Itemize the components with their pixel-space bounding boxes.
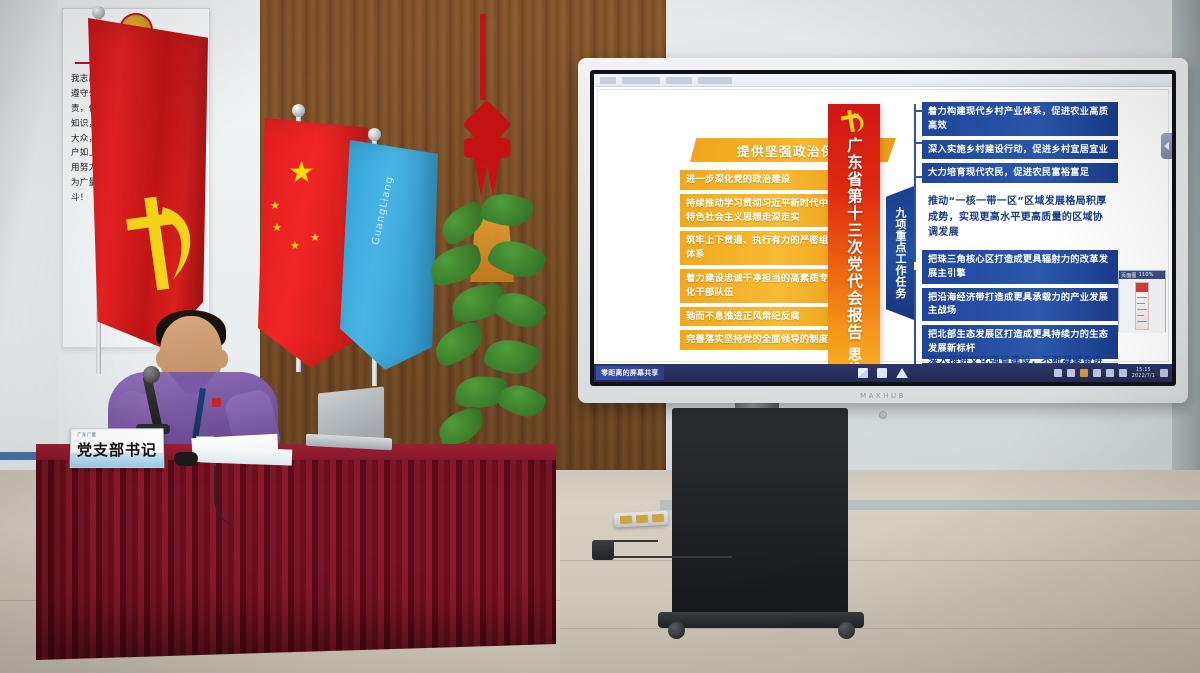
ime-icon[interactable] <box>1067 369 1075 377</box>
panel-collapse-button[interactable] <box>1161 133 1172 159</box>
notification-icon[interactable] <box>1160 369 1168 377</box>
name-plate: 广东广量 党支部书记 <box>70 428 165 468</box>
window-icon[interactable] <box>877 368 887 378</box>
list-item: 筑牢上下贯通、执行有力的严密组织体系 <box>680 231 846 265</box>
chevron-up-icon[interactable] <box>1054 369 1062 377</box>
floor-tile-line <box>560 628 1200 629</box>
taskbar-task-label: 零距离的屏幕共享 <box>601 368 659 378</box>
battery-icon[interactable] <box>1119 369 1127 377</box>
flagpole-finial <box>292 104 305 117</box>
zoom-widget-label: 页面图 <box>1121 272 1137 279</box>
display-screen[interactable]: 提供坚强政治保证 进一步深化党的政治建设 持续推动学习贯彻习近平新时代中国特色社… <box>594 74 1172 382</box>
display-stand-cabinet <box>672 408 848 616</box>
flag-star-small: ★ <box>270 200 280 211</box>
folder-icon[interactable] <box>1080 369 1088 377</box>
hammer-sickle-icon <box>118 188 204 304</box>
cpc-emblem-icon <box>839 108 869 134</box>
list-item: 驰而不息推进正风肃纪反腐 <box>680 307 846 327</box>
windows-icon[interactable] <box>858 368 868 378</box>
floor-right <box>560 500 1200 673</box>
right-section-tab: 九项重点工作任务 <box>886 186 914 320</box>
flag-star-small: ★ <box>310 232 320 243</box>
display-power-indicator <box>879 411 887 419</box>
zoom-thumbnail-widget[interactable]: 页面图 110% <box>1118 270 1166 332</box>
windows-taskbar[interactable]: 零距离的屏幕共享 15:15 2022/7/1 <box>594 364 1172 382</box>
toolbar-button[interactable] <box>600 77 616 84</box>
left-section-list: 进一步深化党的政治建设 持续推动学习贯彻习近平新时代中国特色社会主义思想走深走实… <box>680 170 846 354</box>
clock-date: 2022/7/1 <box>1132 373 1155 379</box>
display-stand-base <box>658 612 864 628</box>
highlight-text: 推动“一核一带一区”区域发展格局积厚成势，实现更高水平更高质量的区域协调发展 <box>922 192 1118 243</box>
zoom-level-value: 110% <box>1139 272 1154 278</box>
presenter-ear <box>216 350 228 368</box>
rail-line <box>914 104 916 262</box>
zoom-widget-header: 页面图 110% <box>1119 271 1165 279</box>
conference-room-photo: 广量誓词 我志愿加入广量大家庭， 遵守公司章程，履行岗位职 责，保守公司机密，努… <box>0 0 1200 673</box>
taskbar-clock[interactable]: 15:15 2022/7/1 <box>1132 367 1155 380</box>
toolbar-button[interactable] <box>622 77 660 84</box>
slide-title-text: 广东省第十三次党代会报告 <box>843 137 865 341</box>
floor-tile-line <box>560 560 1200 561</box>
caster-wheel <box>838 622 855 639</box>
taskbar-task-button[interactable]: 零距离的屏幕共享 <box>596 366 664 380</box>
app-toolbar[interactable] <box>594 74 1172 87</box>
presenter-ear <box>156 350 168 368</box>
slide-content: 提供坚强政治保证 进一步深化党的政治建设 持续推动学习贯彻习近平新时代中国特色社… <box>598 90 1168 361</box>
zoom-widget-preview <box>1119 279 1165 333</box>
caster-wheel <box>668 622 685 639</box>
list-item: 深入实施乡村建设行动，促进乡村宜居宜业 <box>922 140 1118 160</box>
table-skirt <box>36 460 556 660</box>
list-item: 着力建设忠诚干净担当的高素质专业化干部队伍 <box>680 269 846 303</box>
taskbar-center-icons[interactable] <box>858 368 908 378</box>
flag-star-large: ★ <box>288 158 315 188</box>
power-socket <box>652 514 664 523</box>
flag-star-small: ★ <box>290 240 300 251</box>
preview-page-highlight <box>1136 283 1148 292</box>
name-plate-logo: 广东广量 <box>77 432 163 438</box>
floor-cable <box>612 540 658 542</box>
flagpole-finial <box>92 6 105 19</box>
microphone-head <box>143 366 160 383</box>
network-icon[interactable] <box>1093 369 1101 377</box>
chevron-left-icon <box>1164 142 1169 150</box>
right-section-group-top: 着力构建现代乡村产业体系，促进农业高质高效 深入实施乡村建设行动，促进乡村宜居宜… <box>922 102 1118 187</box>
chinese-knot-decoration <box>448 95 526 205</box>
power-socket <box>620 515 632 524</box>
flag-star-small: ★ <box>272 222 282 233</box>
list-item: 着力构建现代乡村产业体系，促进农业高质高效 <box>922 102 1118 136</box>
computer-mouse[interactable] <box>174 452 198 466</box>
document-canvas[interactable]: 提供坚强政治保证 进一步深化党的政治建设 持续推动学习贯彻习近平新时代中国特色社… <box>594 87 1172 364</box>
toolbar-button[interactable] <box>698 77 732 84</box>
list-item: 大力培育现代农民，促进农民富裕富足 <box>922 163 1118 183</box>
documents <box>200 446 293 465</box>
name-plate-title: 党支部书记 <box>71 439 163 460</box>
flagpole-finial <box>368 128 381 141</box>
share-icon[interactable] <box>896 368 908 378</box>
potted-plant <box>430 190 570 460</box>
floor-cable <box>612 556 732 558</box>
company-flag <box>340 140 438 370</box>
list-item: 把珠三角核心区打造成更具辐射力的改革发展主引擎 <box>922 250 1118 284</box>
chinese-knot-cord <box>480 14 486 100</box>
power-socket <box>636 515 648 524</box>
power-adapter <box>592 540 614 560</box>
power-strip <box>614 511 669 528</box>
party-pin-icon <box>212 398 221 407</box>
list-item: 进一步深化党的政治建设 <box>680 170 846 190</box>
taskbar-system-tray[interactable]: 15:15 2022/7/1 <box>1054 367 1168 380</box>
sound-icon[interactable] <box>1106 369 1114 377</box>
display-brand-label: MAXHUB <box>578 392 1188 400</box>
list-item: 把沿海经济带打造成更具承载力的产业发展主战场 <box>922 288 1118 322</box>
right-section-highlight-wrap: 推动“一核一带一区”区域发展格局积厚成势，实现更高水平更高质量的区域协调发展 <box>922 192 1118 243</box>
slide-title-banner: 广东省第十三次党代会报告 思维 <box>828 104 880 382</box>
slide-frame: 提供坚强政治保证 进一步深化党的政治建设 持续推动学习贯彻习近平新时代中国特色社… <box>597 89 1169 362</box>
right-section-tab-label: 九项重点工作任务 <box>892 207 908 299</box>
toolbar-button[interactable] <box>666 77 692 84</box>
list-item: 完善落实坚持党的全面领导的制度 <box>680 330 846 350</box>
list-item: 持续推动学习贯彻习近平新时代中国特色社会主义思想走深走实 <box>680 194 846 228</box>
